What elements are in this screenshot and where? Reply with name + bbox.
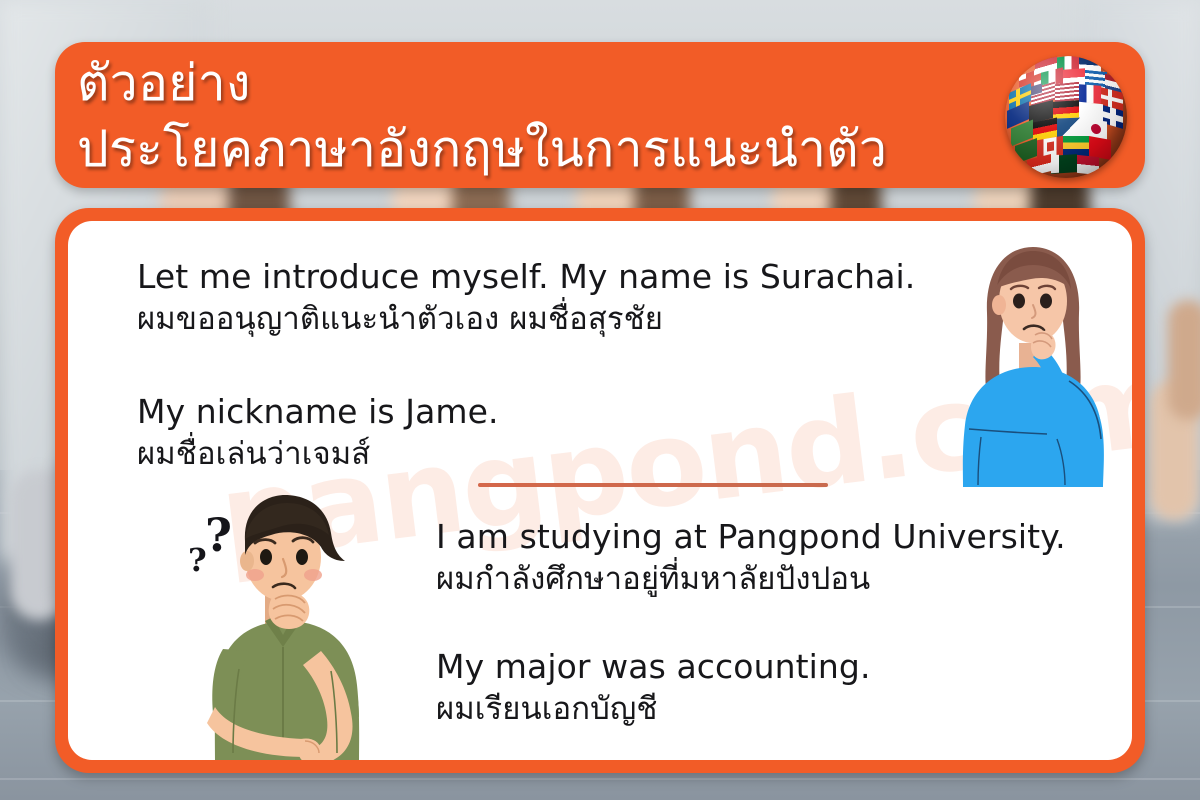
thai-sentence: ผมขออนุญาติแนะนำตัวเอง ผมชื่อสุรชัย: [137, 298, 915, 340]
english-sentence: I am studying at Pangpond University.: [436, 516, 1066, 558]
thinking-woman-illustration: [945, 239, 1120, 489]
thai-sentence: ผมกำลังศึกษาอยู่ที่มหาลัยปังปอน: [436, 558, 1066, 600]
sentence-block-university: I am studying at Pangpond University. ผม…: [436, 516, 1066, 600]
english-sentence: My nickname is Jame.: [137, 391, 499, 433]
sentence-block-nickname: My nickname is Jame. ผมชื่อเล่นว่าเจมส์: [137, 391, 499, 475]
question-mark-icon: ?: [188, 541, 207, 579]
background-figure: [1168, 300, 1200, 420]
divider: [478, 483, 828, 487]
globe-sphere: [1005, 56, 1127, 178]
globe-shading: [1005, 56, 1127, 178]
page-title: ตัวอย่าง ประโยคภาษาอังกฤษในการแนะนำตัว: [77, 50, 1017, 182]
thai-sentence: ผมชื่อเล่นว่าเจมส์: [137, 433, 499, 475]
flags-globe-icon: [1005, 56, 1127, 178]
content-card: pangpond.com Let me introduce myself. My…: [55, 208, 1145, 773]
sentence-block-major: My major was accounting. ผมเรียนเอกบัญชี: [436, 646, 871, 730]
header-banner: ตัวอย่าง ประโยคภาษาอังกฤษในการแนะนำตัว: [55, 42, 1145, 188]
thinking-man-illustration: ? ?: [183, 489, 398, 760]
english-sentence: Let me introduce myself. My name is Sura…: [137, 256, 915, 298]
floor-line: [0, 778, 1200, 780]
sentence-block-introduce: Let me introduce myself. My name is Sura…: [137, 256, 915, 340]
english-sentence: My major was accounting.: [436, 646, 871, 688]
question-mark-icon: ?: [205, 508, 232, 562]
content-card-inner: pangpond.com Let me introduce myself. My…: [68, 221, 1132, 760]
thai-sentence: ผมเรียนเอกบัญชี: [436, 688, 871, 730]
